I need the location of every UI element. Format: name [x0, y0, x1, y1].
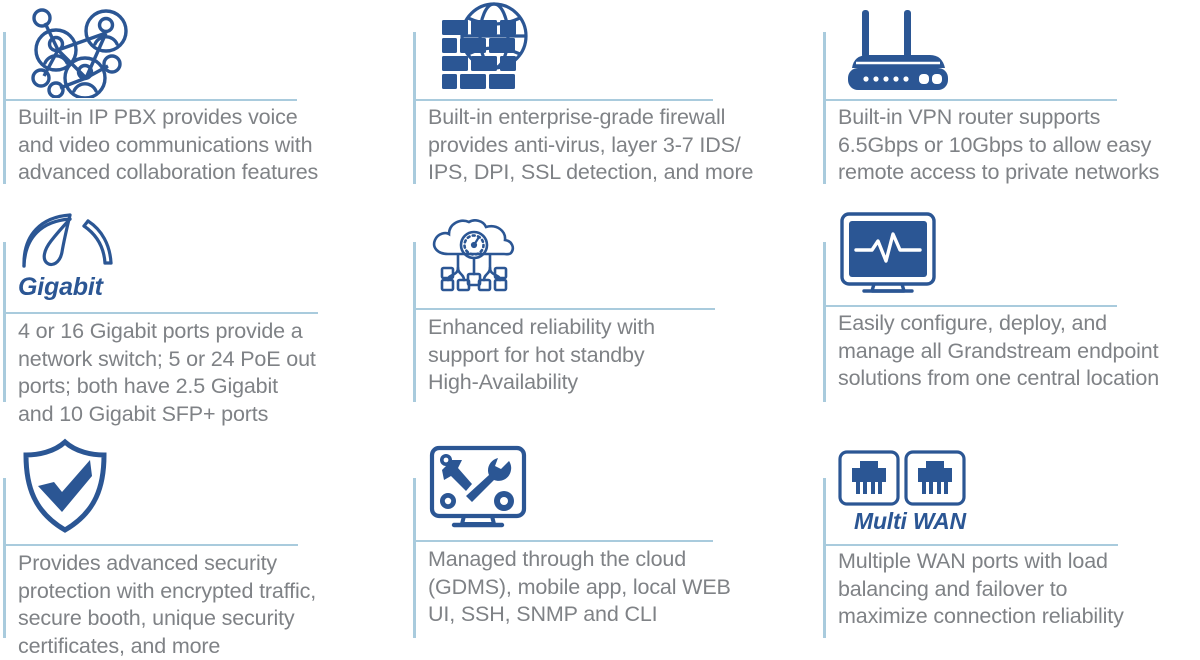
cloud-gauge-network-icon — [428, 218, 520, 303]
gigabit-arc-icon — [18, 208, 118, 275]
horizontal-accent-rule — [823, 305, 1117, 307]
vertical-accent-rule — [413, 478, 416, 638]
vertical-accent-rule — [3, 242, 6, 402]
feature-card-multi-wan: Multi WAN Multiple WAN ports with load b… — [820, 430, 1200, 646]
feature-description: Built-in enterprise-grade firewall provi… — [428, 104, 773, 187]
feature-card-high-availability: Enhanced reliability with support for ho… — [410, 200, 820, 430]
feature-card-central-management: Easily configure, deploy, and manage all… — [820, 200, 1200, 430]
horizontal-accent-rule — [823, 544, 1118, 546]
shield-check-icon — [18, 438, 112, 539]
horizontal-accent-rule — [823, 99, 1117, 101]
vertical-accent-rule — [413, 242, 416, 402]
network-users-icon — [18, 6, 128, 103]
feature-description: Provides advanced security protection wi… — [18, 550, 358, 660]
feature-card-firewall: Built-in enterprise-grade firewall provi… — [410, 0, 820, 200]
vertical-accent-rule — [823, 478, 826, 638]
ethernet-ports-icon — [838, 450, 966, 513]
feature-description: Easily configure, deploy, and manage all… — [838, 310, 1200, 393]
monitor-pulse-icon — [838, 210, 938, 300]
feature-card-security: Provides advanced security protection wi… — [0, 430, 410, 646]
feature-description: Enhanced reliability with support for ho… — [428, 314, 768, 397]
feature-card-gigabit: Gigabit 4 or 16 Gigabit ports provide a … — [0, 200, 410, 430]
firewall-globe-icon — [428, 0, 540, 100]
vertical-accent-rule — [3, 32, 6, 184]
feature-card-vpn-router: Built-in VPN router supports 6.5Gbps or … — [820, 0, 1200, 200]
horizontal-accent-rule — [413, 99, 713, 101]
vertical-accent-rule — [413, 32, 416, 184]
horizontal-accent-rule — [3, 544, 298, 546]
feature-description: Managed through the cloud (GDMS), mobile… — [428, 546, 768, 629]
horizontal-accent-rule — [413, 540, 713, 542]
feature-description: Built-in VPN router supports 6.5Gbps or … — [838, 104, 1193, 187]
feature-card-ip-pbx: Built-in IP PBX provides voice and video… — [0, 0, 410, 200]
feature-description: Built-in IP PBX provides voice and video… — [18, 104, 348, 187]
vertical-accent-rule — [3, 478, 6, 638]
feature-description: Multiple WAN ports with load balancing a… — [838, 548, 1193, 631]
horizontal-accent-rule — [3, 312, 318, 314]
monitor-tools-icon — [428, 444, 528, 535]
feature-description: 4 or 16 Gigabit ports provide a network … — [18, 318, 358, 428]
feature-card-management-interfaces: Managed through the cloud (GDMS), mobile… — [410, 430, 820, 646]
horizontal-accent-rule — [3, 99, 297, 101]
gigabit-wordmark: Gigabit — [18, 273, 103, 302]
multi-wan-wordmark: Multi WAN — [854, 508, 966, 535]
vertical-accent-rule — [823, 242, 826, 402]
horizontal-accent-rule — [413, 308, 715, 310]
feature-grid: Built-in IP PBX provides voice and video… — [0, 0, 1200, 646]
vertical-accent-rule — [823, 32, 826, 184]
router-antenna-icon — [838, 8, 958, 99]
